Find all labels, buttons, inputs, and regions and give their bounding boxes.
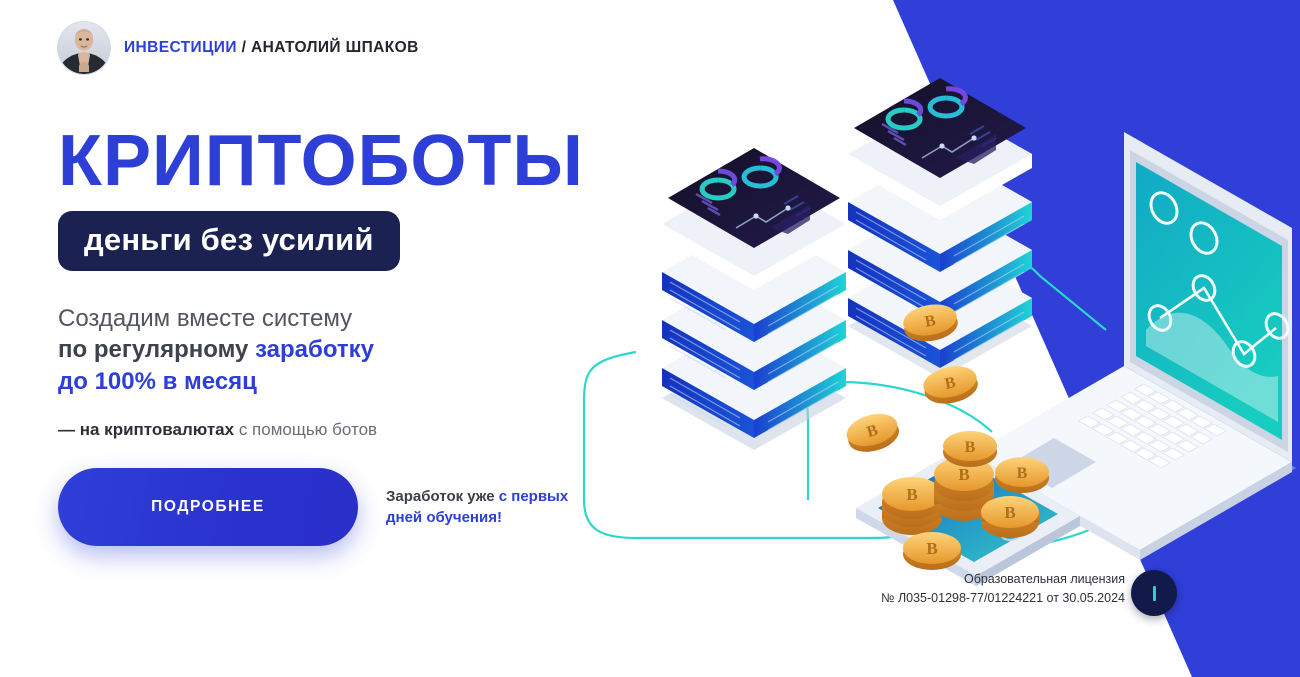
svg-text:B: B (906, 485, 917, 504)
svg-text:B: B (1017, 465, 1028, 482)
cta-note-accent-2: дней обучения! (386, 509, 502, 526)
subline-dash: — (58, 420, 80, 439)
subline-bold: на криптовалютах (80, 420, 234, 439)
license-line-2: № Л035-01298-77/01224221 от 30.05.2024 (881, 589, 1125, 608)
hero-copy: КРИПТОБОТЫ деньги без усилий Создадим вм… (58, 126, 618, 440)
license-line-1: Образовательная лицензия (881, 570, 1125, 589)
subline-rest: с помощью ботов (234, 420, 377, 439)
avatar-photo-icon (58, 22, 110, 74)
exclamation-mark-icon (1153, 586, 1156, 601)
license-seal-badge[interactable] (1131, 570, 1177, 616)
lede-line-1: Создадим вместе систему (58, 303, 618, 335)
cta-note: Заработок уже с первых дней обучения! (386, 486, 568, 529)
avatar (58, 22, 110, 74)
hero-lede: Создадим вместе систему по регулярному з… (58, 303, 618, 399)
hero-illustration: B B B (540, 30, 1300, 650)
tagline-badge: деньги без усилий (58, 211, 400, 271)
details-button[interactable]: ПОДРОБНЕЕ (58, 468, 358, 546)
server-stack-back (662, 148, 846, 450)
brand-separator: / (237, 39, 251, 56)
lede-line-2-plain: по регулярному (58, 336, 255, 363)
cta-row: ПОДРОБНЕЕ Заработок уже с первых дней об… (58, 468, 568, 546)
lede-line-3: до 100% в месяц (58, 366, 618, 398)
page-title: КРИПТОБОТЫ (58, 126, 618, 197)
svg-text:B: B (958, 465, 969, 484)
lede-line-2: по регулярному заработку (58, 334, 618, 366)
brand-name: АНАТОЛИЙ ШПАКОВ (251, 39, 419, 56)
cta-note-accent-1: с первых (499, 488, 568, 505)
brand-accent-word: ИНВЕСТИЦИИ (124, 39, 237, 56)
svg-text:B: B (926, 539, 937, 558)
cta-note-plain: Заработок уже (386, 488, 499, 505)
hero-banner: B B B (0, 0, 1300, 677)
svg-text:B: B (1004, 503, 1015, 522)
lede-line-2-accent: заработку (255, 336, 374, 363)
svg-text:B: B (965, 439, 976, 456)
brand-title: ИНВЕСТИЦИИ / АНАТОЛИЙ ШПАКОВ (124, 39, 419, 57)
tagline-badge-label: деньги без усилий (84, 222, 374, 257)
brand-logo[interactable]: ИНВЕСТИЦИИ / АНАТОЛИЙ ШПАКОВ (58, 22, 419, 74)
license-block: Образовательная лицензия № Л035-01298-77… (881, 570, 1125, 608)
hero-subline: — на криптовалютах с помощью ботов (58, 420, 618, 440)
